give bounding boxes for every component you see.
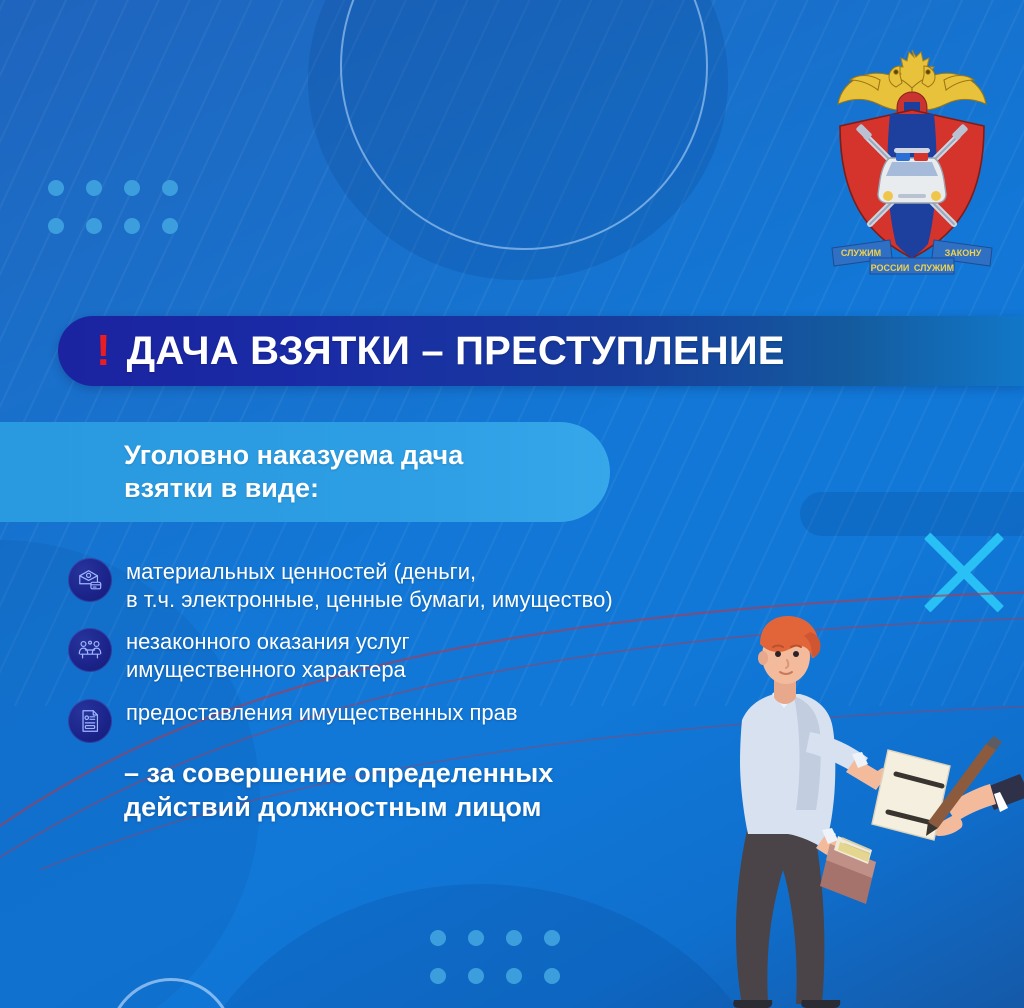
circle-outline-top-decoration: [340, 0, 708, 250]
emblem-motto-russia: РОССИИ: [871, 263, 910, 273]
dot-grid-top-left-decoration: [48, 180, 178, 234]
list-item-text: материальных ценностей (деньги, в т.ч. э…: [126, 556, 613, 614]
list-item-text: предоставления имущественных прав: [126, 697, 518, 727]
emblem-motto-law: ЗАКОНУ: [945, 248, 982, 258]
mvd-russia-emblem: СЛУЖИМ ЗАКОНУ РОССИИ СЛУЖИМ: [818, 44, 1006, 276]
emblem-motto-serve2: СЛУЖИМ: [914, 263, 954, 273]
footer-line-1: – за совершение определенных: [124, 758, 553, 788]
bribe-handover-illustration: [690, 608, 1024, 1008]
page-title: ДАЧА ВЗЯТКИ – ПРЕСТУПЛЕНИЕ: [127, 329, 785, 374]
bullet-2-line-1: незаконного оказания услуг: [126, 629, 410, 654]
people-service-icon: [68, 628, 112, 672]
title-banner: ! ДАЧА ВЗЯТКИ – ПРЕСТУПЛЕНИЕ: [58, 316, 1024, 386]
bullet-1-line-1: материальных ценностей (деньги,: [126, 559, 476, 584]
circle-outline-bottom-decoration: [108, 978, 234, 1008]
exclamation-icon: !: [96, 329, 111, 373]
subtitle-line-2: взятки в виде:: [124, 472, 610, 505]
footer-statement: – за совершение определенных действий до…: [124, 756, 744, 824]
rounded-pill-decoration: [800, 492, 1024, 536]
money-envelope-icon: [68, 558, 112, 602]
poster-root: СЛУЖИМ ЗАКОНУ РОССИИ СЛУЖИМ ! ДАЧА ВЗЯТК…: [0, 0, 1024, 1008]
bullet-3-line-1: предоставления имущественных прав: [126, 700, 518, 725]
bullet-1-line-2: в т.ч. электронные, ценные бумаги, имуще…: [126, 586, 613, 614]
circle-blob-top-decoration: [308, 0, 728, 280]
bullet-2-line-2: имущественного характера: [126, 656, 410, 684]
x-cross-decoration: [920, 528, 1008, 616]
subtitle-banner: Уголовно наказуема дача взятки в виде:: [0, 422, 610, 522]
list-item-text: незаконного оказания услуг имущественног…: [126, 626, 410, 684]
document-rights-icon: [68, 699, 112, 743]
dot-grid-bottom-decoration: [430, 930, 560, 984]
footer-line-2: действий должностным лицом: [124, 792, 542, 822]
subtitle-line-1: Уголовно наказуема дача: [124, 439, 610, 472]
list-item: материальных ценностей (деньги, в т.ч. э…: [68, 556, 828, 614]
emblem-motto-serve: СЛУЖИМ: [841, 248, 881, 258]
